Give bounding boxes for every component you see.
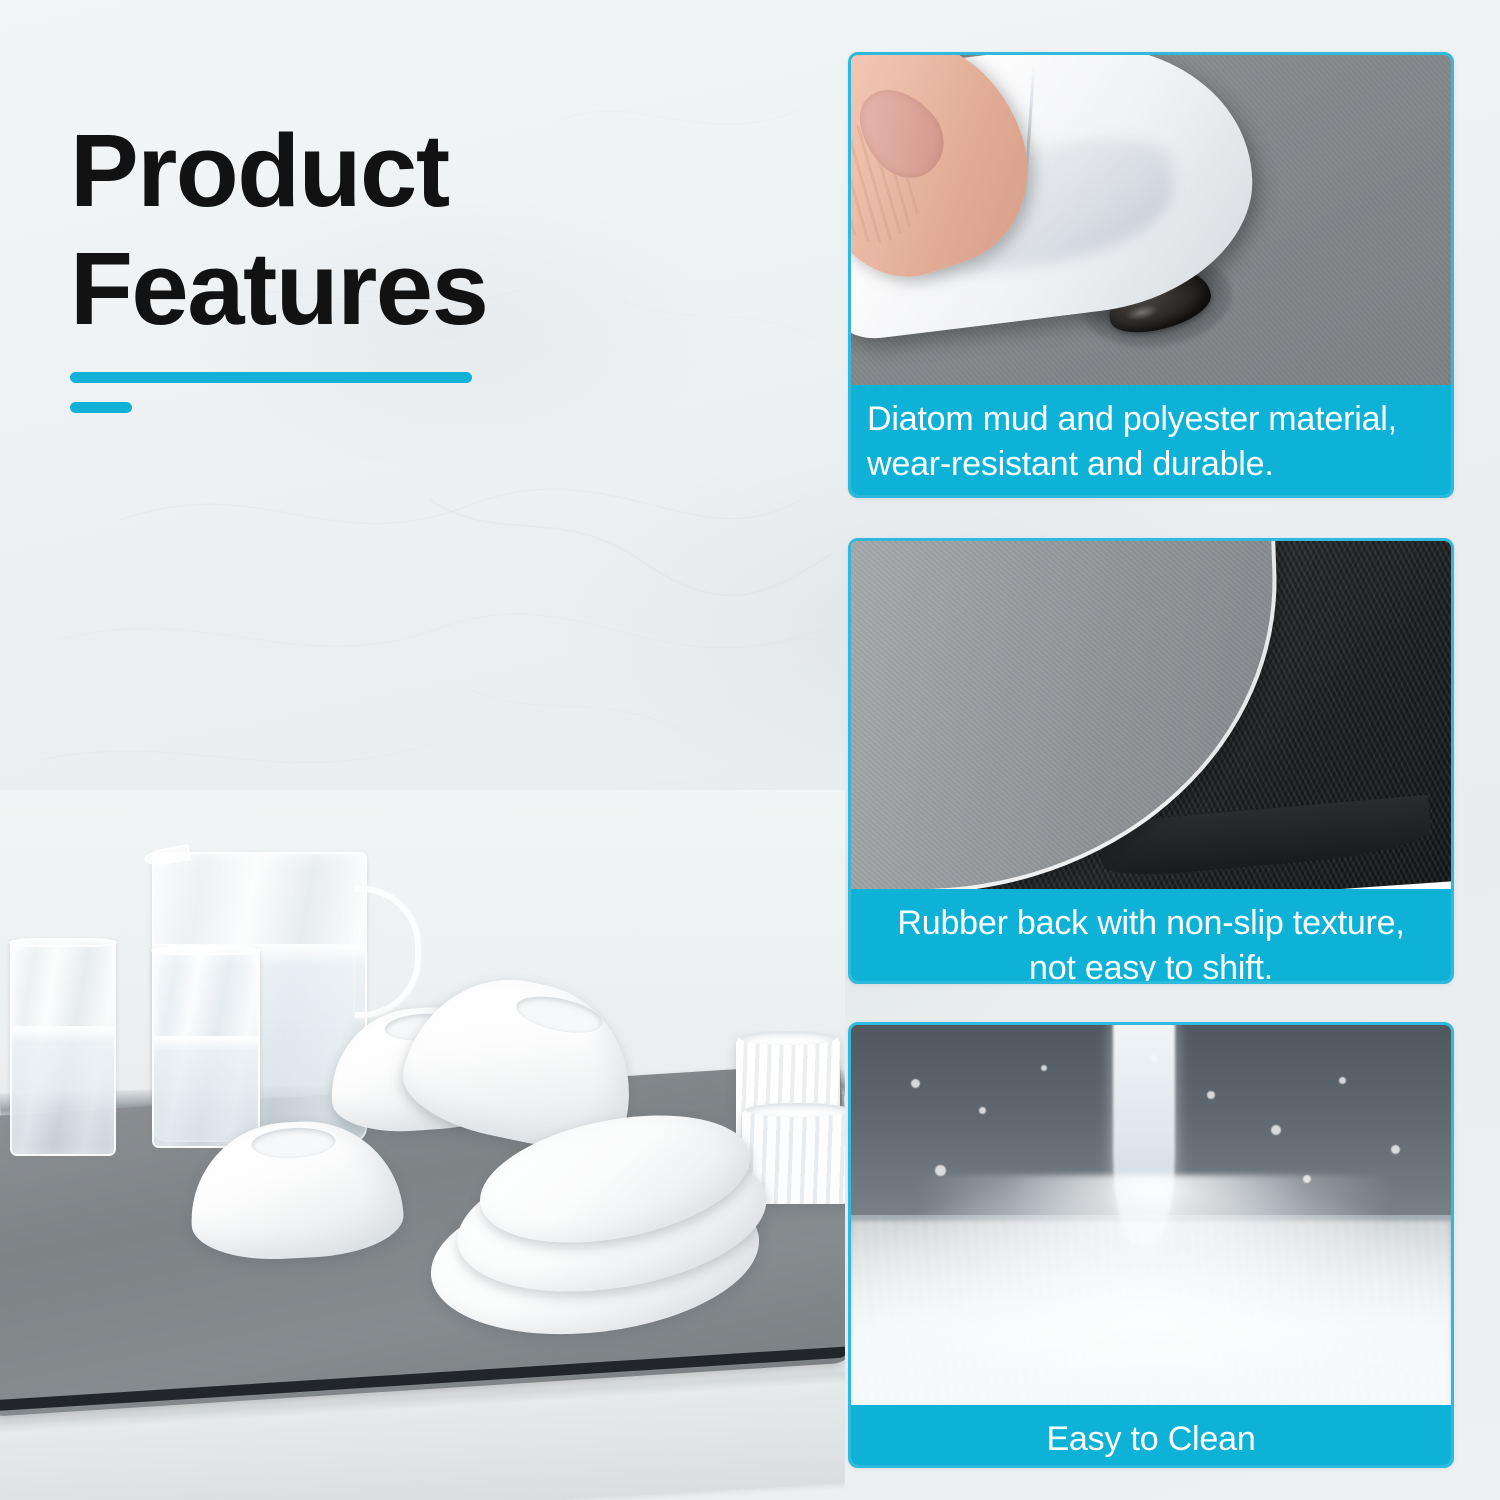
water-glass-tall bbox=[10, 940, 116, 1156]
feature-card-easy-to-clean[interactable]: Easy to Clean bbox=[848, 1022, 1454, 1468]
title-line-1: Product bbox=[70, 112, 810, 230]
glass-rim bbox=[9, 938, 117, 947]
glass-water bbox=[12, 1026, 114, 1154]
hero-scene bbox=[0, 790, 845, 1500]
water-mist-spray bbox=[851, 1221, 1451, 1405]
glass-water bbox=[154, 1036, 258, 1146]
title-line-2: Features bbox=[70, 230, 810, 348]
caption-line-2: wear-resistant and durable. bbox=[867, 442, 1435, 487]
caption-line-1: Easy to Clean bbox=[867, 1417, 1435, 1462]
page-title: Product Features bbox=[70, 112, 810, 348]
feature-caption-non-slip-rubber-back: Rubber back with non-slip texture, not e… bbox=[851, 889, 1451, 984]
caption-line-1: Diatom mud and polyester material, bbox=[867, 397, 1435, 442]
feature-photo-non-slip-rubber-back bbox=[851, 541, 1451, 889]
glass-rim bbox=[151, 946, 261, 955]
feature-card-non-slip-rubber-back[interactable]: Rubber back with non-slip texture, not e… bbox=[848, 538, 1454, 984]
caption-line-2: not easy to shift. bbox=[867, 946, 1435, 984]
caption-line-1: Rubber back with non-slip texture, bbox=[867, 901, 1435, 946]
feature-caption-easy-to-clean: Easy to Clean bbox=[851, 1405, 1451, 1468]
feature-caption-absorbent-material: Diatom mud and polyester material, wear-… bbox=[851, 385, 1451, 498]
feature-panel-column: Diatom mud and polyester material, wear-… bbox=[848, 0, 1500, 1500]
feature-photo-easy-to-clean bbox=[851, 1025, 1451, 1405]
accent-bar-short bbox=[70, 402, 132, 413]
water-glass-short bbox=[152, 948, 260, 1148]
infographic-canvas: Product Features bbox=[0, 0, 1500, 1500]
feature-card-absorbent-material[interactable]: Diatom mud and polyester material, wear-… bbox=[848, 52, 1454, 498]
accent-bar-long bbox=[70, 372, 472, 383]
feature-photo-absorbent-material bbox=[851, 55, 1451, 385]
bowl-foot-ring bbox=[251, 1126, 336, 1160]
